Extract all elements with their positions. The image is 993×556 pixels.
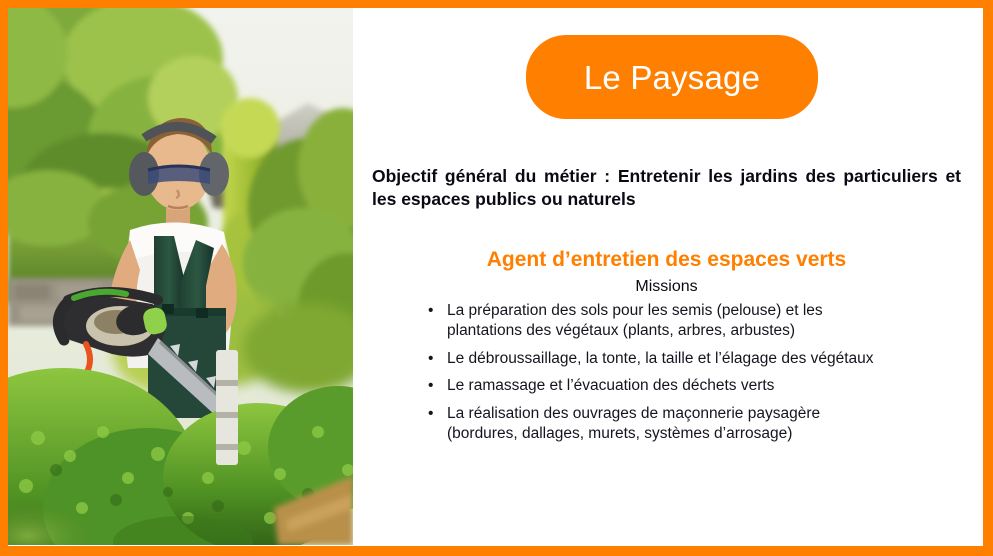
missions-list: • La préparation des sols pour les semis…: [423, 301, 893, 452]
slide-frame: Le Paysage Objectif général du métier : …: [0, 0, 993, 556]
list-item-text: Le ramassage et l’évacuation des déchets…: [447, 377, 774, 394]
gardener-photo-illustration: [8, 8, 353, 545]
content-column: Le Paysage Objectif général du métier : …: [353, 8, 983, 546]
slide-inner: Le Paysage Objectif général du métier : …: [8, 8, 983, 546]
missions-heading: Missions: [372, 277, 961, 296]
objective-paragraph: Objectif général du métier : Entretenir …: [372, 165, 961, 211]
list-item: • Le ramassage et l’évacuation des déche…: [423, 376, 893, 396]
list-item: • La préparation des sols pour les semis…: [423, 301, 893, 341]
bullet-icon: •: [428, 376, 433, 396]
garden-post: [216, 350, 238, 465]
title-pill: Le Paysage: [526, 35, 818, 119]
list-item-text: La préparation des sols pour les semis (…: [447, 302, 823, 339]
bullet-icon: •: [428, 404, 433, 424]
bullet-icon: •: [428, 301, 433, 321]
job-title: Agent d’entretien des espaces verts: [372, 248, 961, 272]
objective-text: Objectif général du métier : Entretenir …: [372, 166, 961, 209]
gardener-photo: [8, 8, 353, 545]
page-title: Le Paysage: [584, 61, 760, 94]
bullet-icon: •: [428, 349, 433, 369]
list-item: • La réalisation des ouvrages de maçonne…: [423, 404, 893, 444]
list-item: • Le débroussaillage, la tonte, la taill…: [423, 349, 893, 369]
list-item-text: Le débroussaillage, la tonte, la taille …: [447, 350, 874, 367]
list-item-text: La réalisation des ouvrages de maçonneri…: [447, 405, 820, 442]
